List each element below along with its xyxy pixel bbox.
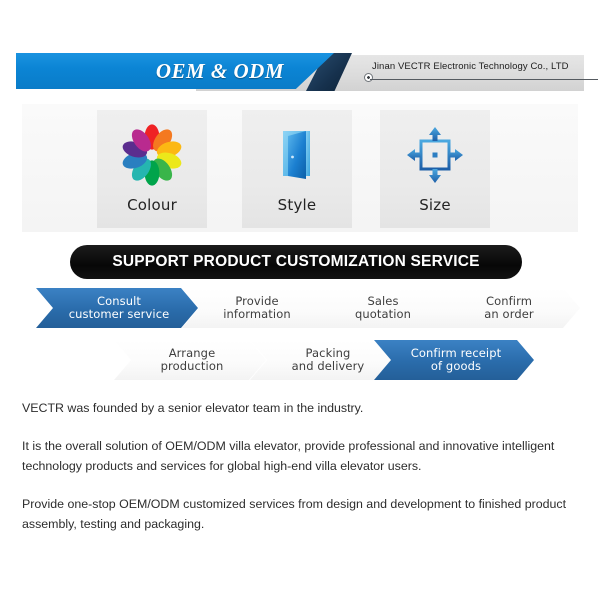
feature-card-colour[interactable]: Colour [97,110,207,228]
header-blue-banner: OEM & ODM [16,53,334,89]
description-paragraph: It is the overall solution of OEM/ODM vi… [22,436,578,476]
process-step-provide-information[interactable]: Provide information [182,288,328,328]
process-step-label: Arrange production [161,347,224,373]
feature-card-label: Colour [127,196,177,214]
process-step-consult-customer-service[interactable]: Consult customer service [36,288,198,328]
process-flow: Consult customer service Provide informa… [16,288,584,388]
feature-card-style[interactable]: Style [242,110,352,228]
feature-card-size[interactable]: Size [380,110,490,228]
process-flow-row-2: Arrange production Packing and delivery … [16,340,584,380]
feature-card-label: Size [419,196,451,214]
page-header: OEM & ODM Jinan VECTR Electronic Technol… [16,53,584,93]
company-name: Jinan VECTR Electronic Technology Co., L… [372,61,598,72]
feature-card-row: Colour [22,104,578,232]
description-paragraph: Provide one-stop OEM/ODM customized serv… [22,494,578,534]
product-customization-page: OEM & ODM Jinan VECTR Electronic Technol… [0,0,600,600]
process-step-confirm-receipt-of-goods[interactable]: Confirm receipt of goods [374,340,534,380]
customization-service-banner: SUPPORT PRODUCT CUSTOMIZATION SERVICE [70,245,522,279]
feature-card-label: Style [278,196,317,214]
description-text-block: VECTR was founded by a senior elevator t… [22,398,578,534]
company-underline-divider [370,79,598,80]
colour-wheel-icon [121,124,183,186]
company-bullet-icon [364,73,373,82]
page-title: OEM & ODM [16,53,302,89]
process-step-arrange-production[interactable]: Arrange production [114,340,266,380]
process-step-label: Confirm receipt of goods [411,347,501,373]
process-step-label: Sales quotation [355,295,411,321]
process-step-sales-quotation[interactable]: Sales quotation [310,288,452,328]
process-flow-row-1: Consult customer service Provide informa… [16,288,584,328]
process-step-label: Confirm an order [484,295,533,321]
process-step-label: Packing and delivery [292,347,365,373]
open-door-icon [266,124,328,186]
description-paragraph: VECTR was founded by a senior elevator t… [22,398,578,418]
resize-arrows-icon [404,124,466,186]
process-step-label: Consult customer service [69,295,170,321]
process-step-label: Provide information [223,295,290,321]
customization-service-banner-text: SUPPORT PRODUCT CUSTOMIZATION SERVICE [112,253,479,271]
process-step-confirm-an-order[interactable]: Confirm an order [434,288,580,328]
